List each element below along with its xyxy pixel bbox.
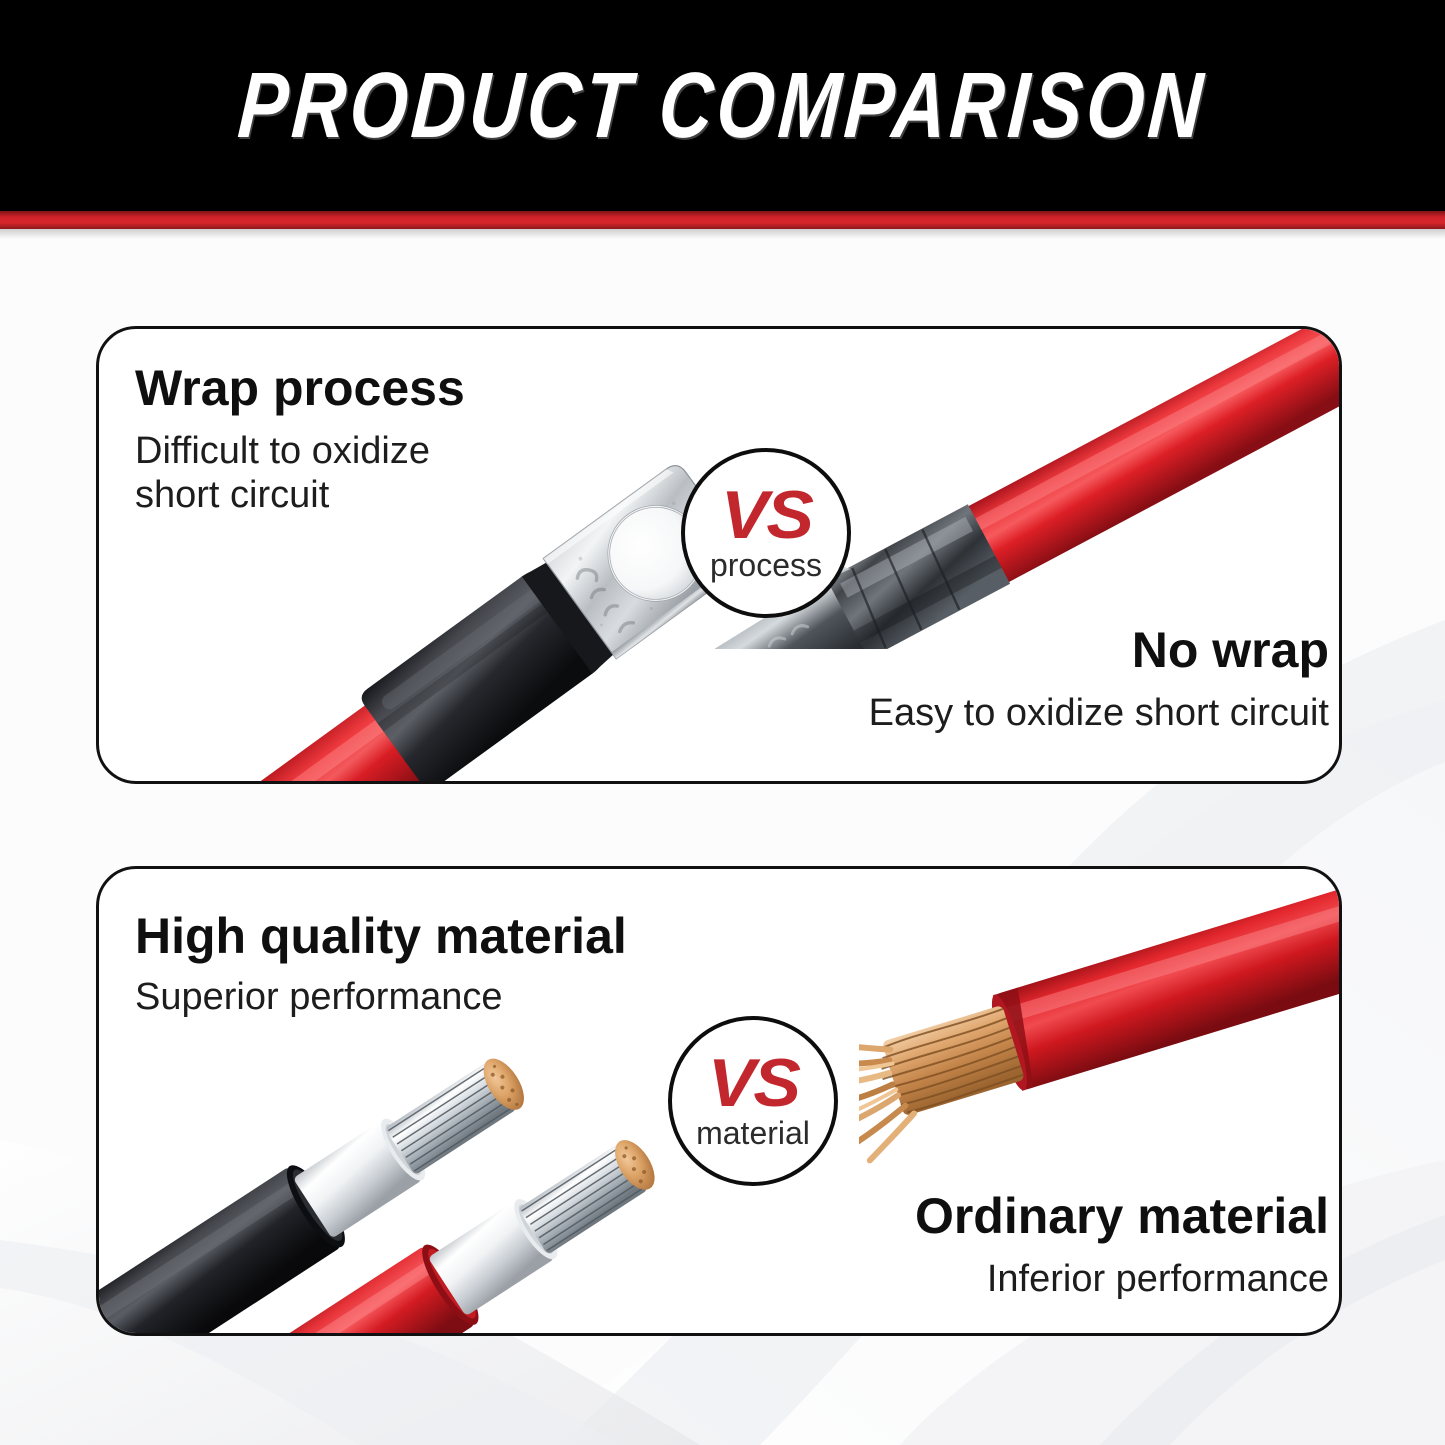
- ordinary-material-subtitle: Inferior performance: [915, 1257, 1329, 1301]
- no-wrap-title: No wrap: [869, 621, 1329, 679]
- vs-badge-material: VS material: [668, 1016, 838, 1186]
- frayed-copper-cable-image: [859, 869, 1342, 1199]
- vs-badge-process: VS process: [681, 448, 851, 618]
- header-banner: PRODUCT COMPARISON: [0, 0, 1445, 211]
- high-quality-subtitle: Superior performance: [135, 975, 627, 1019]
- high-quality-title: High quality material: [135, 907, 627, 965]
- infographic-page: PRODUCT COMPARISON: [0, 0, 1445, 1445]
- vs-label: VS: [707, 1052, 798, 1114]
- wrap-process-subtitle-line2: short circuit: [135, 473, 465, 517]
- ordinary-material-text-block: Ordinary material Inferior performance: [915, 1187, 1329, 1301]
- header-accent-rule: [0, 211, 1445, 229]
- wrap-process-title: Wrap process: [135, 359, 465, 417]
- vs-caption: process: [710, 548, 822, 582]
- ordinary-material-title: Ordinary material: [915, 1187, 1329, 1245]
- wrap-process-subtitle-line1: Difficult to oxidize: [135, 429, 465, 473]
- wrap-process-text-block: Wrap process Difficult to oxidize short …: [135, 359, 465, 517]
- page-title: PRODUCT COMPARISON: [141, 50, 1305, 160]
- no-wrap-text-block: No wrap Easy to oxidize short circuit: [869, 621, 1329, 735]
- vs-label: VS: [720, 484, 811, 546]
- no-wrap-subtitle: Easy to oxidize short circuit: [869, 691, 1329, 735]
- header-rule-shadow: [0, 229, 1445, 239]
- vs-caption: material: [696, 1116, 810, 1150]
- high-quality-text-block: High quality material Superior performan…: [135, 907, 627, 1019]
